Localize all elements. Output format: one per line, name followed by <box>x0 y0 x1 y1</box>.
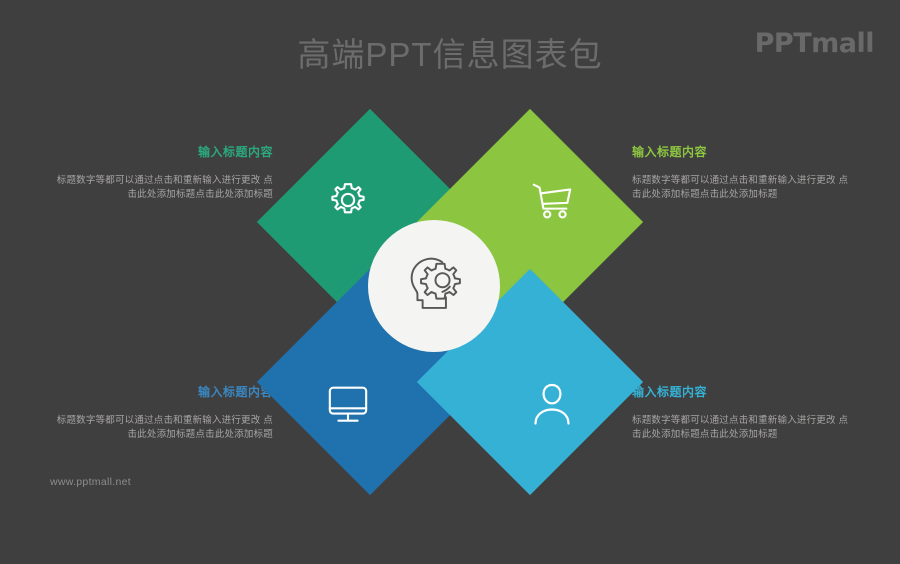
segment-body-bottom-left: 标题数字等都可以通过点击和重新输入进行更改 点击此处添加标题点击此处添加标题 <box>48 414 273 443</box>
segment-text-top-right: 输入标题内容 标题数字等都可以通过点击和重新输入进行更改 点击此处添加标题点击此… <box>632 143 857 203</box>
person-icon <box>472 324 632 484</box>
diamond-diagram <box>290 142 610 462</box>
segment-text-top-left: 输入标题内容 标题数字等都可以通过点击和重新输入进行更改 点击此处添加标题点击此… <box>48 143 273 203</box>
segment-title-bottom-left: 输入标题内容 <box>48 383 273 400</box>
segment-title-top-left: 输入标题内容 <box>48 143 273 160</box>
shopping-cart-icon <box>472 120 632 280</box>
segment-body-top-left: 标题数字等都可以通过点击和重新输入进行更改 点击此处添加标题点击此处添加标题 <box>48 174 273 203</box>
segment-body-top-right: 标题数字等都可以通过点击和重新输入进行更改 点击此处添加标题点击此处添加标题 <box>632 174 857 203</box>
segment-title-top-right: 输入标题内容 <box>632 143 857 160</box>
center-hub[interactable] <box>368 220 500 352</box>
segment-title-bottom-right: 输入标题内容 <box>632 383 857 400</box>
site-url[interactable]: www.pptmall.net <box>50 476 131 488</box>
segment-text-bottom-left: 输入标题内容 标题数字等都可以通过点击和重新输入进行更改 点击此处添加标题点击此… <box>48 383 273 443</box>
head-gear-icon <box>397 247 471 326</box>
segment-body-bottom-right: 标题数字等都可以通过点击和重新输入进行更改 点击此处添加标题点击此处添加标题 <box>632 414 857 443</box>
monitor-icon <box>268 324 428 484</box>
segment-text-bottom-right: 输入标题内容 标题数字等都可以通过点击和重新输入进行更改 点击此处添加标题点击此… <box>632 383 857 443</box>
brand-logo: PPTmall <box>755 28 874 59</box>
